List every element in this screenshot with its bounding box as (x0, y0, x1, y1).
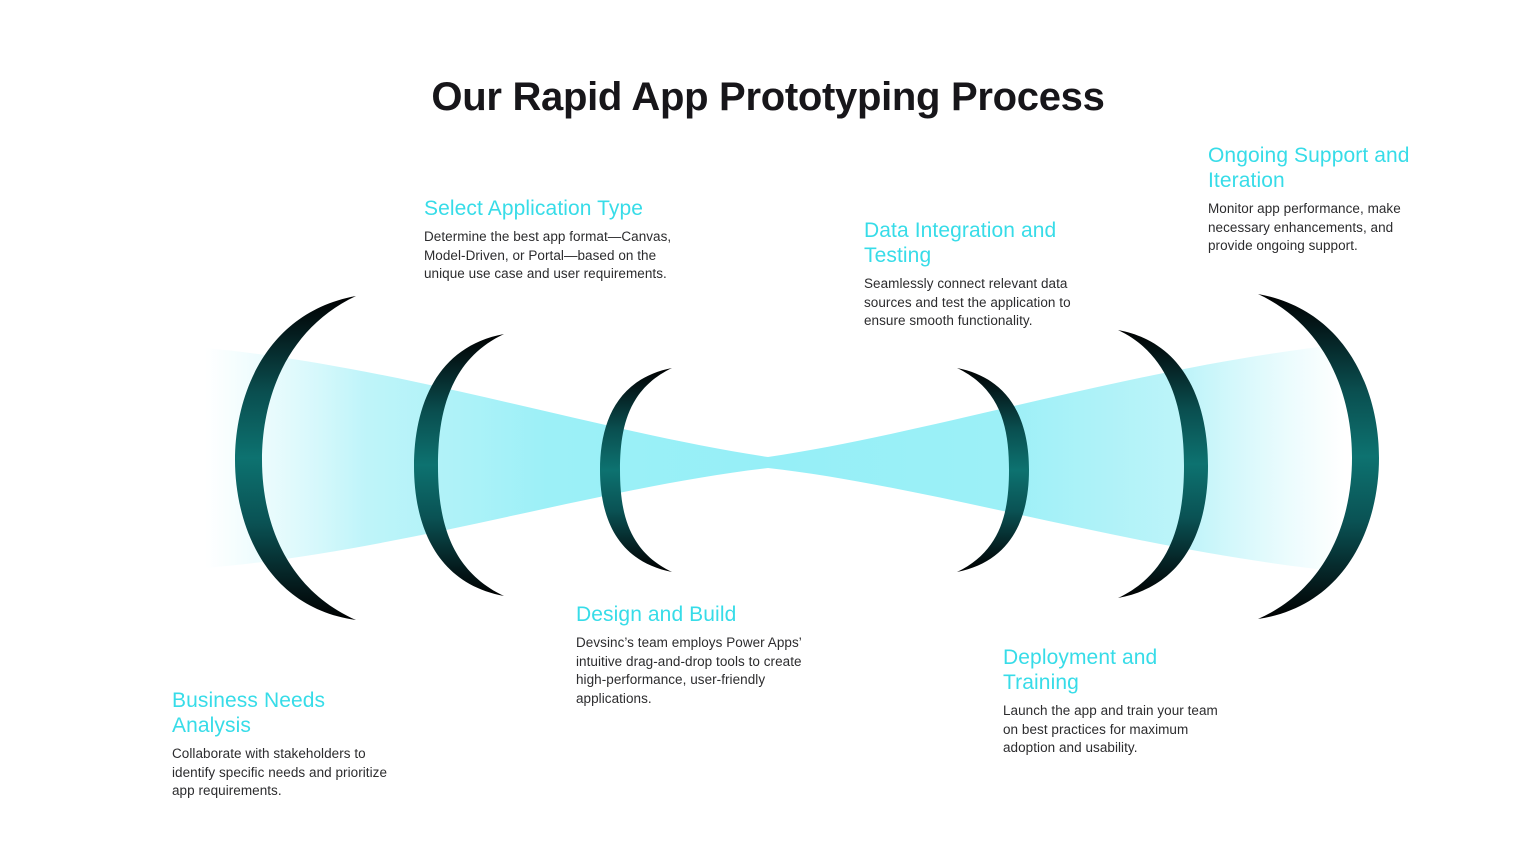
crescent-arc-4 (957, 368, 1029, 572)
step-description: Determine the best app format—Canvas, Mo… (424, 228, 672, 284)
step-description: Seamlessly connect relevant data sources… (864, 275, 1089, 331)
step-description: Devsinc’s team employs Power Apps’ intui… (576, 634, 806, 708)
crescent-arc-1 (235, 296, 356, 620)
step-title: Design and Build (576, 602, 806, 627)
crescent-arc-6 (1258, 294, 1379, 619)
arc-group-right (957, 294, 1379, 619)
step-description: Monitor app performance, make necessary … (1208, 200, 1433, 256)
ribbon-shape (205, 344, 1345, 572)
step-description: Collaborate with stakeholders to identif… (172, 745, 408, 801)
page-title: Our Rapid App Prototyping Process (0, 75, 1536, 120)
step-title: Select Application Type (424, 196, 672, 221)
step-title: Deployment and Training (1003, 645, 1228, 695)
crescent-arc-3 (600, 368, 672, 572)
step-title: Ongoing Support and Iteration (1208, 143, 1433, 193)
step-design-and-build: Design and Build Devsinc’s team employs … (576, 602, 806, 708)
crescent-arc-5 (1118, 330, 1208, 598)
crescent-arc-2 (414, 334, 504, 596)
step-title: Business Needs Analysis (172, 688, 408, 738)
step-select-application-type: Select Application Type Determine the be… (424, 196, 672, 284)
ribbon-band (205, 344, 1345, 572)
step-deployment-and-training: Deployment and Training Launch the app a… (1003, 645, 1228, 758)
infographic-canvas: Our Rapid App Prototyping Process (0, 0, 1536, 864)
step-description: Launch the app and train your team on be… (1003, 702, 1228, 758)
step-data-integration-and-testing: Data Integration and Testing Seamlessly … (864, 218, 1089, 331)
arc-group-left (235, 296, 672, 620)
step-ongoing-support-and-iteration: Ongoing Support and Iteration Monitor ap… (1208, 143, 1433, 256)
step-business-needs-analysis: Business Needs Analysis Collaborate with… (172, 688, 408, 801)
step-title: Data Integration and Testing (864, 218, 1089, 268)
